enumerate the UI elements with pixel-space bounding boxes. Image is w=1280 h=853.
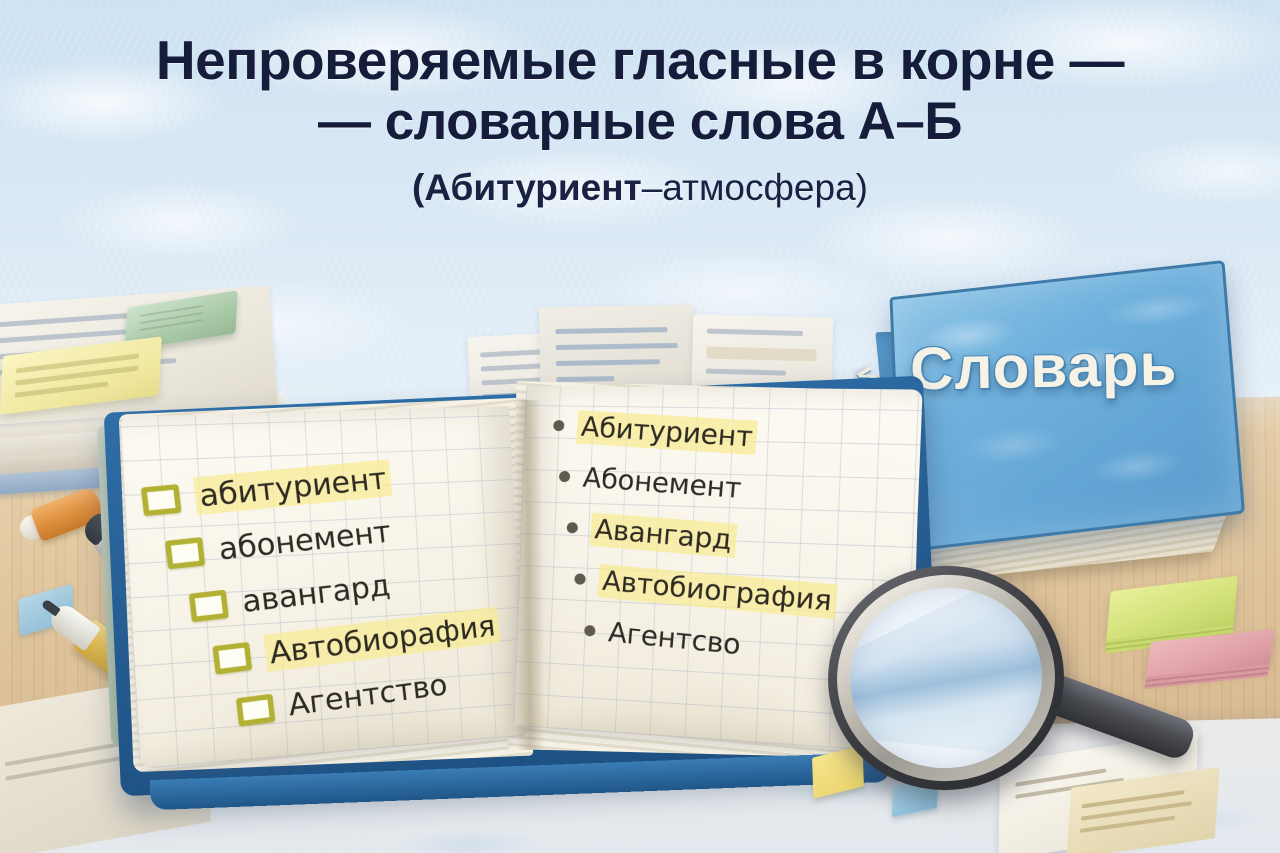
doc-line [556,359,660,366]
magnifying-glass-icon[interactable] [828,566,1128,853]
list-item-label: Абитуриент [576,411,758,454]
checkbox-icon[interactable] [165,537,205,569]
page-title-line-2: — словарные слова А–Б [0,92,1280,151]
doc-line [556,343,678,350]
bullet-icon [553,420,565,432]
bullet-icon [566,522,578,534]
dictionary-cover-texture [893,263,1242,549]
checkbox-icon[interactable] [212,641,252,674]
dictionary-book[interactable]: Словарь [876,276,1236,576]
poster-canvas: Непроверяемые гласные в корне — — словар… [0,0,1280,853]
bullet-icon [584,625,596,637]
subtitle-dash: – [642,167,663,208]
dictionary-cover [889,260,1245,553]
doc-line [707,329,803,337]
open-notebook[interactable]: абитуриент абонемент авангард Автобиораф… [120,372,920,792]
list-item-label: Авангард [589,514,737,557]
checklist-item-label: авангард [240,567,391,619]
checkbox-icon[interactable] [236,693,275,726]
dictionary-title-text: Словарь [909,330,1177,404]
subtitle-bold-part: (Абитуриент [412,167,642,208]
checkbox-icon[interactable] [189,589,229,621]
list-item-label: Агентсво [607,617,742,662]
page-title-line-1: Непроверяемые гласные в корне — [0,30,1280,92]
subtitle-regular-part: атмосфера) [662,167,868,208]
list-item-label: Автобиография [597,565,837,618]
checkbox-icon[interactable] [141,484,182,516]
bullet-icon [574,573,586,585]
doc-line [706,347,816,362]
checklist-item-label: Агентство [286,667,448,723]
bullet-icon [559,471,571,483]
checklist-left: абитуриент абонемент авангард Автобиораф… [140,445,525,752]
notebook-page-left: абитуриент абонемент авангард Автобиораф… [119,406,527,769]
poster-header: Непроверяемые гласные в корне — — словар… [0,30,1280,209]
list-item-label: Абонемент [582,462,743,505]
checklist-item-label: абонемент [217,514,393,567]
doc-line [555,327,667,334]
page-subtitle: (Абитуриент–атмосфера) [0,167,1280,209]
